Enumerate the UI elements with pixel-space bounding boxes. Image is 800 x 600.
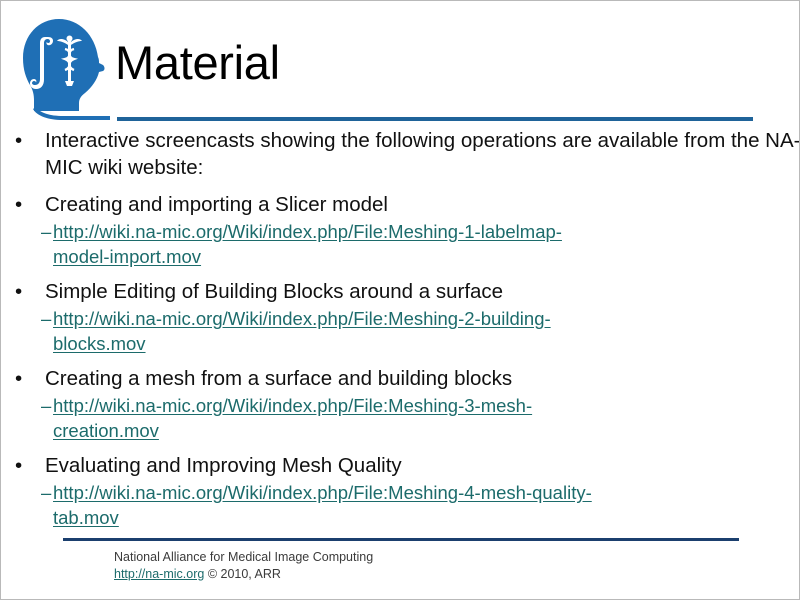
footer-copyright: © 2010, ARR: [208, 567, 281, 581]
spacer: [1, 357, 800, 365]
bullet-text: Interactive screencasts showing the foll…: [45, 129, 800, 179]
bullet-item-1: • Interactive screencasts showing the fo…: [1, 127, 800, 181]
slide-body: • Interactive screencasts showing the fo…: [1, 127, 800, 527]
link-item-1[interactable]: – http://wiki.na-mic.org/Wiki/index.php/…: [1, 219, 800, 269]
link-line-1[interactable]: http://wiki.na-mic.org/Wiki/index.php/Fi…: [53, 308, 551, 329]
slide-footer: National Alliance for Medical Image Comp…: [114, 549, 373, 583]
footer-organization: National Alliance for Medical Image Comp…: [114, 549, 373, 566]
footer-website-link[interactable]: http://na-mic.org: [114, 567, 204, 581]
bullet-text: Creating and importing a Slicer model: [45, 193, 388, 216]
header-divider: [117, 117, 753, 121]
link-line-1[interactable]: http://wiki.na-mic.org/Wiki/index.php/Fi…: [53, 482, 592, 503]
link-item-2[interactable]: – http://wiki.na-mic.org/Wiki/index.php/…: [1, 306, 800, 356]
bullet-marker: •: [15, 452, 22, 479]
footer-line-2: http://na-mic.org © 2010, ARR: [114, 566, 373, 583]
na-mic-head-caduceus-logo: [15, 17, 111, 121]
bullet-marker: •: [15, 127, 22, 154]
bullet-text: Creating a mesh from a surface and build…: [45, 367, 512, 390]
spacer: [1, 182, 800, 191]
link-line-2[interactable]: creation.mov: [53, 418, 159, 443]
link-item-3[interactable]: – http://wiki.na-mic.org/Wiki/index.php/…: [1, 393, 800, 443]
link-line-2[interactable]: blocks.mov: [53, 331, 146, 356]
bullet-item-4: • Creating a mesh from a surface and bui…: [1, 365, 800, 392]
bullet-item-5: • Evaluating and Improving Mesh Quality: [1, 452, 800, 479]
link-line-2[interactable]: model-import.mov: [53, 244, 201, 269]
bullet-marker: •: [15, 365, 22, 392]
presentation-slide: Material • Interactive screencasts showi…: [0, 0, 800, 600]
bullet-item-3: • Simple Editing of Building Blocks arou…: [1, 278, 800, 305]
spacer: [1, 270, 800, 278]
link-item-4[interactable]: – http://wiki.na-mic.org/Wiki/index.php/…: [1, 480, 800, 530]
sub-bullet-marker: –: [41, 306, 51, 331]
link-line-1[interactable]: http://wiki.na-mic.org/Wiki/index.php/Fi…: [53, 221, 562, 242]
sub-bullet-marker: –: [41, 219, 51, 244]
bullet-marker: •: [15, 278, 22, 305]
bullet-item-2: • Creating and importing a Slicer model: [1, 191, 800, 218]
page-title: Material: [115, 34, 280, 92]
sub-bullet-marker: –: [41, 480, 51, 505]
footer-divider: [63, 538, 739, 541]
spacer: [1, 444, 800, 452]
sub-bullet-marker: –: [41, 393, 51, 418]
link-line-1[interactable]: http://wiki.na-mic.org/Wiki/index.php/Fi…: [53, 395, 532, 416]
slide-header: Material: [1, 1, 800, 125]
bullet-text: Simple Editing of Building Blocks around…: [45, 280, 503, 303]
link-line-2[interactable]: tab.mov: [53, 505, 119, 530]
bullet-marker: •: [15, 191, 22, 218]
bullet-text: Evaluating and Improving Mesh Quality: [45, 454, 402, 477]
